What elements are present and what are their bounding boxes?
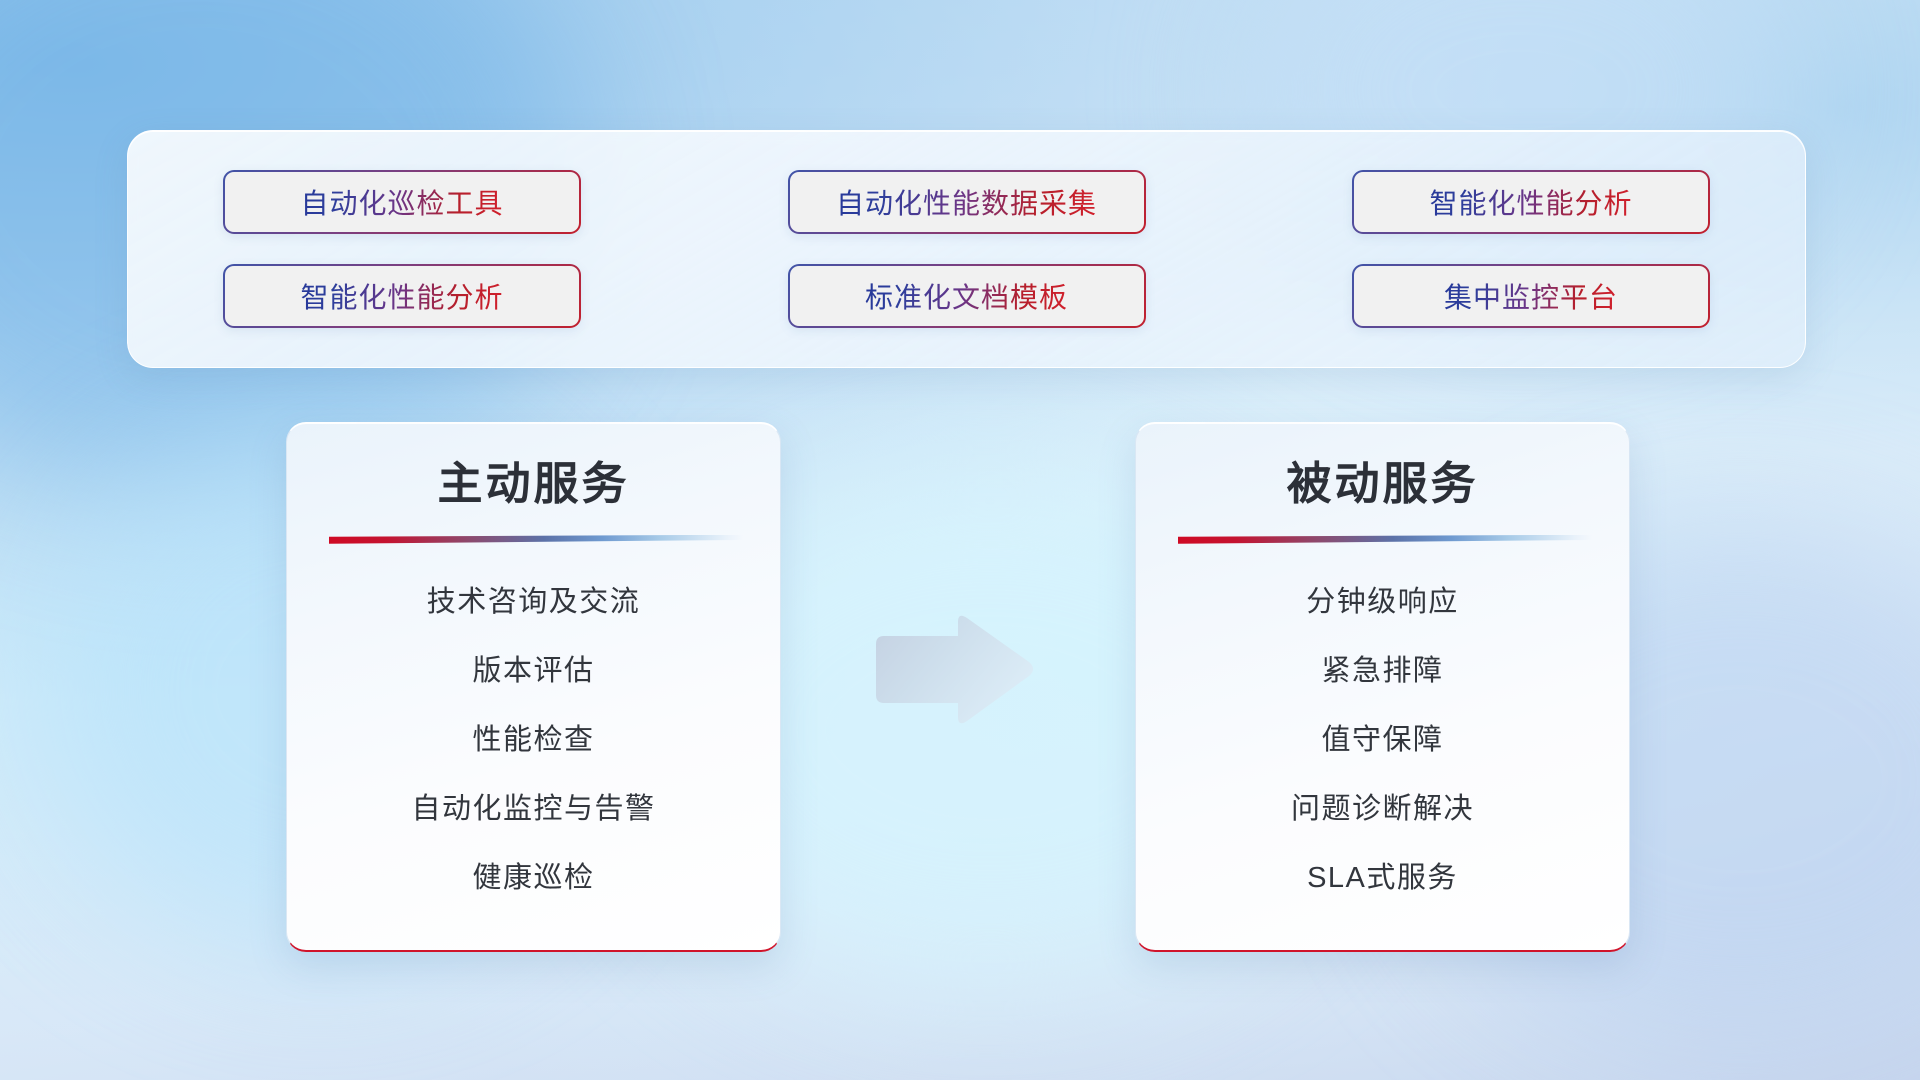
service-list-item: 技术咨询及交流	[427, 578, 641, 620]
service-list-item: 健康巡检	[472, 854, 594, 896]
service-list-item: 值守保障	[1321, 716, 1443, 758]
capability-chip-auto-inspection-tool[interactable]: 自动化巡检工具	[223, 170, 581, 234]
capability-chip-surface: 智能化性能分析	[225, 266, 579, 326]
slide-canvas: 自动化巡检工具 自动化性能数据采集 智能化性能分析 智能化性能分析	[0, 0, 1920, 1080]
capability-chip-label: 自动化性能数据采集	[836, 182, 1097, 222]
service-card-reactive: 被动服务 分钟级响应 紧急排障 值守保障 问题诊断解决 SLA式服务	[1135, 422, 1630, 952]
capability-chip-surface: 集中监控平台	[1354, 266, 1708, 326]
service-card-proactive: 主动服务 技术咨询及交流 版本评估 性能检查 自动化监控与告警 健康巡检	[286, 422, 781, 952]
title-divider	[329, 535, 743, 544]
capability-chip-label: 智能化性能分析	[300, 276, 503, 316]
capability-chip-surface: 智能化性能分析	[1354, 172, 1708, 232]
capability-chip-surface: 自动化巡检工具	[225, 172, 579, 232]
capability-chip-surface: 自动化性能数据采集	[790, 172, 1144, 232]
capability-chip-label: 集中监控平台	[1444, 276, 1618, 316]
capability-chip-surface: 标准化文档模板	[790, 266, 1144, 326]
service-list-item: 版本评估	[472, 647, 594, 689]
capability-row-2: 智能化性能分析 标准化文档模板 集中监控平台	[168, 264, 1765, 328]
capability-row-1: 自动化巡检工具 自动化性能数据采集 智能化性能分析	[168, 170, 1765, 234]
arrow-right-icon	[872, 612, 1036, 728]
service-list-item: 问题诊断解决	[1291, 785, 1474, 827]
service-card-title: 被动服务	[1178, 458, 1587, 510]
capability-panel: 自动化巡检工具 自动化性能数据采集 智能化性能分析 智能化性能分析	[127, 130, 1806, 368]
service-card-title: 主动服务	[329, 458, 738, 510]
capability-chip-centralized-monitoring-platform[interactable]: 集中监控平台	[1352, 264, 1710, 328]
service-list-item: 紧急排障	[1321, 647, 1443, 689]
capability-chip-intelligent-perf-analysis-2[interactable]: 智能化性能分析	[223, 264, 581, 328]
service-list-item: 分钟级响应	[1306, 578, 1459, 620]
service-list-item: 性能检查	[472, 716, 594, 758]
service-list-item: SLA式服务	[1307, 854, 1458, 896]
capability-chip-standard-doc-template[interactable]: 标准化文档模板	[788, 264, 1146, 328]
capability-chip-label: 智能化性能分析	[1429, 182, 1632, 222]
capability-chip-intelligent-perf-analysis[interactable]: 智能化性能分析	[1352, 170, 1710, 234]
capability-chip-auto-perf-data-collection[interactable]: 自动化性能数据采集	[788, 170, 1146, 234]
service-list-item: 自动化监控与告警	[411, 785, 655, 827]
capability-chip-label: 标准化文档模板	[865, 276, 1068, 316]
service-item-list: 分钟级响应 紧急排障 值守保障 问题诊断解决 SLA式服务	[1178, 578, 1587, 896]
capability-chip-label: 自动化巡检工具	[300, 182, 503, 222]
title-divider	[1178, 535, 1592, 544]
service-item-list: 技术咨询及交流 版本评估 性能检查 自动化监控与告警 健康巡检	[329, 578, 738, 896]
